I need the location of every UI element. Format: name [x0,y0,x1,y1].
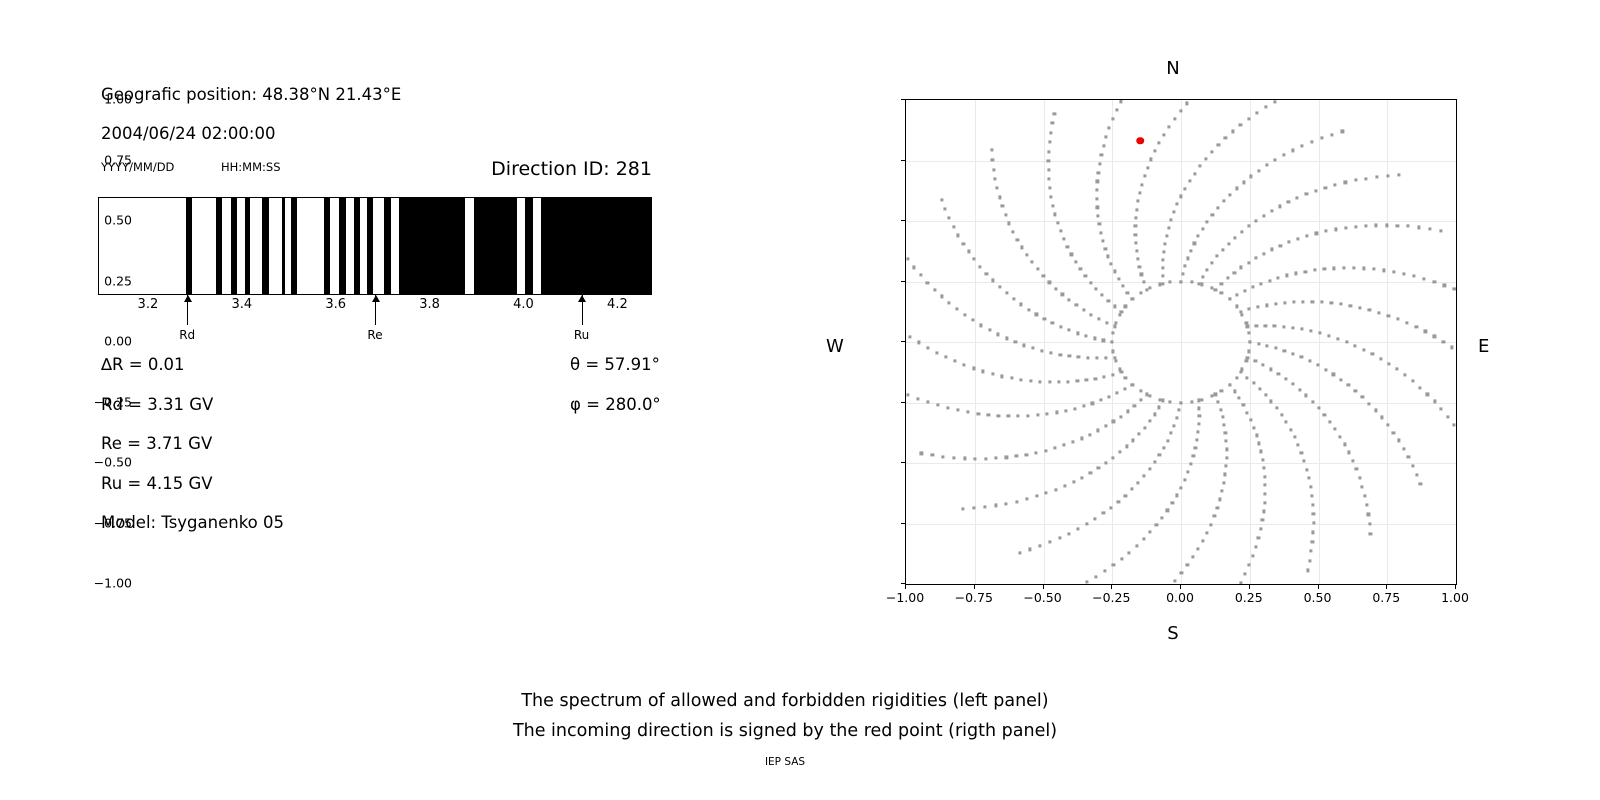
direction-point [1320,136,1323,139]
direction-point [1014,341,1017,344]
direction-point [1100,153,1103,156]
gridline-horizontal [906,161,1456,162]
direction-point [1201,283,1204,286]
direction-point [1252,381,1255,384]
direction-point [1246,376,1249,379]
direction-point [1126,291,1129,294]
x-axis-tick-mark [1180,585,1181,589]
direction-point [1113,305,1116,308]
direction-point [1347,384,1350,387]
y-axis-tick-label: −0.75 [94,515,132,530]
direction-point [1116,392,1119,395]
direction-point [1103,569,1106,572]
direction-point [1386,174,1389,177]
direction-point [1371,352,1374,355]
direction-point [1095,357,1098,360]
direction-point [1059,229,1062,232]
direction-point [1288,241,1291,244]
direction-point [1266,344,1269,347]
direction-point [1263,484,1266,487]
direction-point [1265,164,1268,167]
direction-point [1047,159,1050,162]
direction-point [1029,379,1032,382]
direction-point [1114,359,1117,362]
direction-point [1007,414,1010,417]
direction-point [1216,506,1219,509]
direction-point [1247,225,1250,228]
direction-point [1162,446,1165,449]
direction-point [1223,424,1226,427]
direction-point [1161,274,1164,277]
direction-point [1197,235,1200,238]
direction-point [997,414,1000,417]
direction-point [1309,329,1312,332]
direction-point [1105,321,1108,324]
direction-point [1134,216,1137,219]
y-axis-tick-label: 0.75 [104,152,132,167]
y-axis-tick-label: −0.50 [94,455,132,470]
direction-point [1139,291,1142,294]
direction-point [967,250,970,253]
direction-point [1190,281,1193,284]
direction-point [1136,200,1139,203]
x-axis-tick-label: 0.75 [1372,590,1400,605]
direction-point [1339,378,1342,381]
direction-point [1374,409,1377,412]
direction-point [1084,274,1087,277]
direction-point [1363,494,1366,497]
direction-point [1446,415,1449,418]
y-axis-tick-mark [901,281,905,282]
direction-point [1372,268,1375,271]
direction-point [963,313,966,316]
direction-point [1198,165,1201,168]
direction-point [1307,477,1310,480]
direction-point [1450,346,1453,349]
direction-point [1330,301,1333,304]
direction-point [1453,288,1456,291]
direction-point [1283,301,1286,304]
direction-point [1259,528,1262,531]
direction-point [1089,313,1092,316]
direction-point [991,279,994,282]
direction-point [1245,359,1248,362]
direction-point [1289,428,1292,431]
direction-point [1295,272,1298,275]
direction-point [1125,445,1128,448]
direction-point [1227,242,1230,245]
direction-point [1338,435,1341,438]
direction-point [1059,353,1062,356]
direction-point [1048,381,1051,384]
direction-point [1343,443,1346,446]
direction-point [1301,144,1304,147]
direction-point [1005,456,1008,459]
direction-point [1263,501,1266,504]
direction-point [1134,241,1137,244]
direction-point [1005,291,1008,294]
direction-point [1139,389,1142,392]
direction-point [1433,335,1436,338]
direction-point [1273,325,1276,328]
direction-point [1197,547,1200,550]
direction-point [1387,362,1390,365]
direction-point [1097,171,1100,174]
direction-point [1051,204,1054,207]
direction-point [1142,538,1145,541]
direction-point [1277,276,1280,279]
direction-point [1314,189,1317,192]
direction-point [1189,249,1192,252]
direction-point [1050,196,1053,199]
y-axis-tick-mark [901,462,905,463]
direction-point [1020,246,1023,249]
direction-point [1242,181,1245,184]
direction-point [979,265,982,268]
direction-point [1311,540,1314,543]
compass-north-label: N [1166,58,1179,79]
direction-point [1358,306,1361,309]
direction-point [1067,380,1070,383]
direction-point [1219,408,1222,411]
direction-point [1364,224,1367,227]
direction-point [1369,532,1372,535]
direction-point [991,373,994,376]
direction-point [1016,238,1019,241]
direction-point [1318,332,1321,335]
direction-point [953,360,956,363]
direction-point [1137,481,1140,484]
direction-point [1342,266,1345,269]
direction-point [1423,277,1426,280]
y-axis-tick-label: 1.00 [104,92,132,107]
direction-point [1051,321,1054,324]
direction-point [948,301,951,304]
x-axis-tick-label: 1.00 [1441,590,1469,605]
direction-point [1248,340,1251,343]
direction-point [1179,401,1182,404]
direction-point [920,452,923,455]
direction-point [1221,416,1224,419]
direction-point [1005,337,1008,340]
direction-point [1213,515,1216,518]
direction-point [1183,187,1186,190]
direction-point [1153,413,1156,416]
direction-point [1300,451,1303,454]
direction-point [1097,467,1100,470]
direction-point [967,410,970,413]
direction-point [1443,284,1446,287]
direction-point [1344,181,1347,184]
direction-point [1034,451,1037,454]
direction-point [998,285,1001,288]
direction-point [1262,252,1265,255]
direction-point [1433,280,1436,283]
direction-point [1061,293,1064,296]
direction-point [1303,460,1306,463]
direction-point [1068,298,1071,301]
y-axis-tick-mark [901,99,905,100]
direction-point [946,406,949,409]
direction-point [1201,275,1204,278]
direction-point [1109,506,1112,509]
direction-point [1012,297,1015,300]
direction-point [1097,214,1100,217]
direction-point [1170,431,1173,434]
direction-point [1291,382,1294,385]
direction-point [1235,305,1238,308]
direction-point [916,397,919,400]
direction-point [1049,131,1052,134]
x-axis-tick-label: −0.50 [1023,590,1061,605]
direction-point [1194,447,1197,450]
direction-point [1079,267,1082,270]
direction-point [994,177,997,180]
direction-point [1112,420,1115,423]
x-axis-tick-mark [1111,585,1112,589]
direction-point [1096,206,1099,209]
direction-point [1300,328,1303,331]
direction-point [1063,484,1066,487]
y-axis-tick-mark [901,341,905,342]
direction-point [1262,510,1265,513]
y-axis-tick-mark [901,402,905,403]
direction-point [1121,284,1124,287]
direction-point [1311,503,1314,506]
direction-point [1377,311,1380,314]
figure-caption: The spectrum of allowed and forbidden ri… [0,686,1570,746]
y-axis-tick-label: 0.25 [104,273,132,288]
direction-point [931,454,934,457]
direction-point [1280,413,1283,416]
direction-point [1380,416,1383,419]
direction-point [1043,317,1046,320]
direction-point [1030,261,1033,264]
direction-point [1057,381,1060,384]
direction-point [1327,334,1330,337]
direction-point [1032,347,1035,350]
direction-point [1211,287,1214,290]
direction-point [1258,387,1261,390]
direction-point [1153,461,1156,464]
direction-point [1274,346,1277,349]
direction-point [1312,512,1315,515]
direction-point [1193,172,1196,175]
direction-point [1005,502,1008,505]
direction-point [992,168,995,171]
direction-point [1308,559,1311,562]
direction-point [1249,418,1252,421]
gridline-horizontal [906,524,1456,525]
direction-point [948,217,951,220]
direction-point [1257,169,1260,172]
direction-point [1452,423,1455,426]
direction-point [1112,331,1115,334]
direction-point [1187,470,1190,473]
direction-point [1293,436,1296,439]
gridline-horizontal [906,342,1456,343]
direction-point [1397,174,1400,177]
direction-point [1054,213,1057,216]
direction-point [1334,427,1337,430]
direction-point [1226,276,1229,279]
direction-point [1428,227,1431,230]
direction-point [1201,539,1204,542]
direction-point [957,409,960,412]
direction-point [1354,344,1357,347]
direction-point [1132,439,1135,442]
direction-point [1107,255,1110,258]
x-axis-tick-mark [1249,585,1250,589]
direction-point [1050,351,1053,354]
direction-point [1247,331,1250,334]
direction-point [1085,581,1088,584]
direction-point [1334,228,1337,231]
direction-point [1048,187,1051,190]
direction-point [1085,378,1088,381]
direction-point [1113,270,1116,273]
direction-point [1198,415,1201,418]
compass-south-label: S [1167,623,1178,644]
direction-point [1243,289,1246,292]
direction-point [957,234,960,237]
direction-point [919,274,922,277]
direction-point [981,370,984,373]
direction-point [1039,380,1042,383]
direction-point [1134,225,1137,228]
direction-point [1101,293,1104,296]
direction-point [980,324,983,327]
direction-point [1313,269,1316,272]
direction-point [1247,117,1250,120]
direction-point [1260,282,1263,285]
direction-point [1112,456,1115,459]
direction-point [1112,563,1115,566]
direction-point [1244,572,1247,575]
direction-point [1392,270,1395,273]
direction-point [1119,451,1122,454]
direction-point [1308,359,1311,362]
direction-point [1000,375,1003,378]
direction-point [1265,304,1268,307]
direction-point [1261,519,1264,522]
direction-point [1133,404,1136,407]
direction-point [1130,488,1133,491]
direction-point [1275,406,1278,409]
direction-point [1291,352,1294,355]
direction-point [1104,356,1107,359]
direction-point [1211,261,1214,264]
direction-point [1162,399,1165,402]
direction-point [1354,179,1357,182]
direction-point [1433,400,1436,403]
direction-point [1112,350,1115,353]
direction-point [1336,337,1339,340]
direction-point [1186,257,1189,260]
direction-point [1368,522,1371,525]
caption-line-2: The incoming direction is signed by the … [0,716,1570,746]
direction-point [1442,340,1445,343]
direction-point [926,346,929,349]
direction-point [1148,287,1151,290]
direction-point [972,367,975,370]
direction-point [1162,250,1165,253]
compass-east-label: E [1478,336,1489,357]
direction-point [973,258,976,261]
direction-point [1076,379,1079,382]
x-axis-tick-label: −0.75 [955,590,993,605]
direction-point [1048,141,1051,144]
direction-point [1075,304,1078,307]
direction-point [1344,226,1347,229]
direction-point [1068,532,1071,535]
direction-point [1354,389,1357,392]
direction-point [1365,503,1368,506]
direction-point [1179,110,1182,113]
direction-point [1048,281,1051,284]
direction-point [1328,420,1331,423]
direction-point [1026,414,1029,417]
direction-point [1310,550,1313,553]
direction-point [1096,180,1099,183]
direction-point [1298,388,1301,391]
direction-point [908,335,911,338]
direction-point [1058,536,1061,539]
direction-point [906,258,909,261]
y-axis-tick-mark [901,220,905,221]
direction-point [1108,126,1111,129]
direction-point [1386,423,1389,426]
direction-point [1180,571,1183,574]
direction-point [1402,447,1405,450]
direction-point [1397,439,1400,442]
direction-point [1354,225,1357,228]
direction-point [1277,372,1280,375]
direction-point [1362,348,1365,351]
footer-credit: IEP SAS [0,756,1570,768]
direction-point [1161,266,1164,269]
direction-point [962,242,965,245]
direction-point [1270,248,1273,251]
direction-point [1020,378,1023,381]
direction-point [1216,206,1219,209]
direction-point [1169,218,1172,221]
direction-point [1216,255,1219,258]
x-axis-tick-mark [1386,585,1387,589]
direction-point [1396,317,1399,320]
direction-point [1158,398,1161,401]
direction-point [1039,544,1042,547]
direction-point [1186,563,1189,566]
y-axis-tick-mark [901,583,905,584]
direction-point [1169,281,1172,284]
direction-point [1382,269,1385,272]
direction-point [1162,282,1165,285]
direction-point [1118,313,1121,316]
direction-point [1095,575,1098,578]
direction-point [1138,433,1141,436]
direction-point [1316,364,1319,367]
direction-point [1095,197,1098,200]
direction-point [1181,272,1184,275]
direction-point [1044,449,1047,452]
x-axis-tick-mark [1455,585,1456,589]
direction-point [1255,324,1258,327]
direction-point [1143,175,1146,178]
direction-point [1175,416,1178,419]
direction-point [1352,266,1355,269]
direction-point [1415,325,1418,328]
